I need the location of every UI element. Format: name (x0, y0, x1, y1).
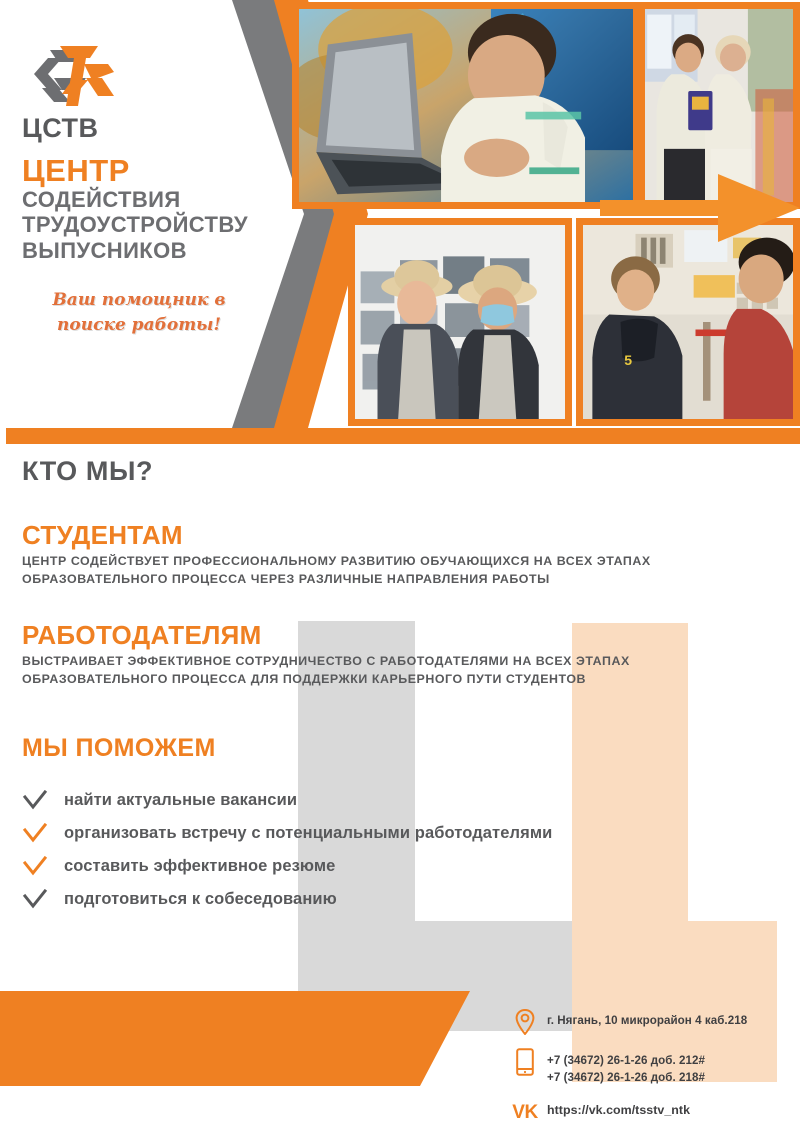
vk-label: VK (512, 1103, 537, 1122)
svg-text:5: 5 (624, 352, 632, 368)
logo-abbreviation: ЦСТВ (22, 115, 142, 142)
section-students: СТУДЕНТАМ ЦЕНТР СОДЕЙСТВУЕТ ПРОФЕССИОНАЛ… (22, 522, 762, 588)
orange-divider-band (6, 428, 800, 444)
help-list: найти актуальные вакансии организовать в… (22, 784, 722, 916)
contact-phone-1: +7 (34672) 26-1-26 доб. 212# (547, 1054, 705, 1067)
right-arrow-icon (600, 172, 800, 244)
tagline: Ваш помощник в поиске работы! (24, 288, 254, 337)
list-item: найти актуальные вакансии (22, 784, 722, 817)
title-line-4: ВЫПУСНИКОВ (22, 239, 272, 264)
title-line-2: СОДЕЙСТВИЯ (22, 188, 272, 213)
section-students-heading: СТУДЕНТАМ (22, 522, 762, 548)
contact-vk-url[interactable]: https://vk.com/tsstv_ntk (547, 1099, 690, 1120)
list-item-label: найти актуальные вакансии (64, 791, 297, 810)
we-help-heading: МЫ ПОМОЖЕМ (22, 734, 216, 763)
photo-student-laptop (292, 2, 640, 209)
check-icon (22, 889, 48, 911)
contact-block: г. Нягань, 10 микрорайон 4 каб.218 +7 (3… (512, 1008, 800, 1130)
list-item: подготовиться к собеседованию (22, 883, 722, 916)
title-line-3: ТРУДОУСТРОЙСТВУ (22, 213, 272, 238)
section-employers: РАБОТОДАТЕЛЯМ ВЫСТРАИВАЕТ ЭФФЕКТИВНОЕ СО… (22, 622, 762, 688)
poster-header: 5 (0, 0, 800, 428)
photo-two-students-hats (348, 218, 572, 426)
contact-phone-2: +7 (34672) 26-1-26 доб. 218# (547, 1071, 705, 1084)
list-item-label: подготовиться к собеседованию (64, 890, 337, 909)
vk-icon: VK (512, 1099, 538, 1127)
page-title: ЦЕНТР СОДЕЙСТВИЯ ТРУДОУСТРОЙСТВУ ВЫПУСНИ… (22, 155, 272, 263)
mobile-phone-icon (512, 1048, 538, 1076)
footer-orange-shape (0, 991, 470, 1086)
check-icon (22, 856, 48, 878)
contact-address: г. Нягань, 10 микрорайон 4 каб.218 (547, 1008, 747, 1030)
contact-phones: +7 (34672) 26-1-26 доб. 212# +7 (34672) … (547, 1048, 705, 1087)
poster-root: 5 (0, 0, 800, 1130)
location-pin-icon (512, 1008, 538, 1036)
list-item: организовать встречу с потенциальными ра… (22, 817, 722, 850)
list-item-label: организовать встречу с потенциальными ра… (64, 824, 552, 843)
section-students-body: ЦЕНТР СОДЕЙСТВУЕТ ПРОФЕССИОНАЛЬНОМУ РАЗВ… (22, 553, 762, 588)
section-employers-heading: РАБОТОДАТЕЛЯМ (22, 622, 762, 648)
section-employers-body: ВЫСТРАИВАЕТ ЭФФЕКТИВНОЕ СОТРУДНИЧЕСТВО С… (22, 653, 762, 688)
check-icon (22, 823, 48, 845)
check-icon (22, 790, 48, 812)
contact-address-row: г. Нягань, 10 микрорайон 4 каб.218 (512, 1008, 800, 1036)
photo-workshop: 5 (576, 218, 800, 426)
brand-logo: ЦСТВ (22, 44, 142, 149)
contact-phone-row: +7 (34672) 26-1-26 доб. 212# +7 (34672) … (512, 1048, 800, 1087)
contact-vk-row[interactable]: VK https://vk.com/tsstv_ntk (512, 1099, 800, 1127)
title-accent: ЦЕНТР (22, 155, 272, 187)
cstv-monogram-icon (28, 44, 114, 112)
list-item: составить эффективное резюме (22, 850, 722, 883)
list-item-label: составить эффективное резюме (64, 857, 335, 876)
who-we-are-heading: КТО МЫ? (22, 456, 153, 487)
